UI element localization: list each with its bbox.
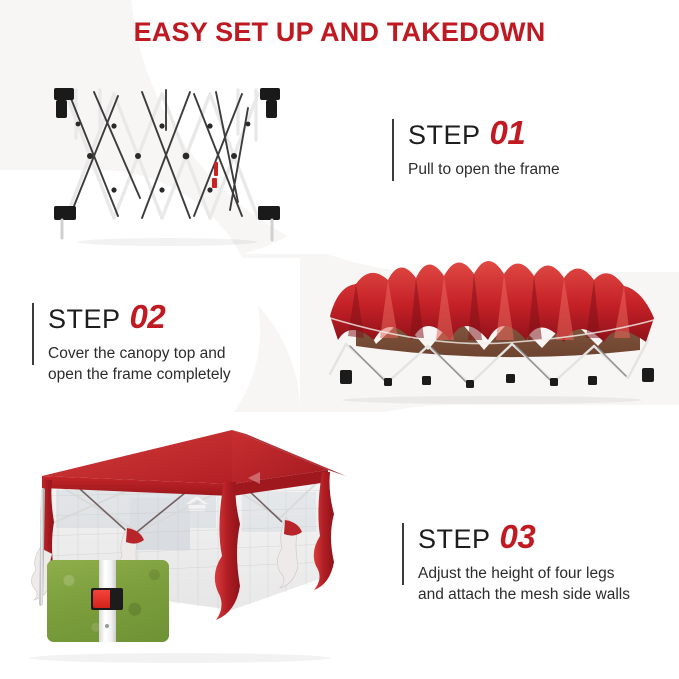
page-title: EASY SET UP AND TAKEDOWN: [134, 17, 546, 48]
step-label-02: STEP: [48, 304, 121, 334]
step-block-03: STEP03 Adjust the height of four legs an…: [402, 520, 630, 606]
step-number-03: 03: [500, 518, 536, 555]
step-label-03: STEP: [418, 524, 491, 554]
header-banner: EASY SET UP AND TAKEDOWN: [0, 0, 679, 64]
red-push-button: [93, 590, 110, 608]
step-block-01: STEP01 Pull to open the frame: [392, 116, 560, 181]
leg-height-button-detail: [47, 560, 169, 642]
draped-canopy-photo: [316, 246, 668, 406]
infographic-page: EASY SET UP AND TAKEDOWN: [0, 0, 679, 679]
step-number-01: 01: [490, 114, 526, 151]
step-label-01: STEP: [408, 120, 481, 150]
step-heading-02: STEP02: [48, 300, 231, 333]
collapsed-frame-photo: [42, 78, 292, 248]
step-description-03: Adjust the height of four legs and attac…: [418, 564, 630, 606]
step-description-01: Pull to open the frame: [408, 160, 560, 181]
step-block-02: STEP02 Cover the canopy top and open the…: [32, 300, 231, 386]
leg-adjust-hole: [105, 624, 109, 628]
step-description-02: Cover the canopy top and open the frame …: [48, 344, 231, 386]
step-heading-01: STEP01: [408, 116, 560, 149]
step-number-02: 02: [130, 298, 166, 335]
step-heading-03: STEP03: [418, 520, 630, 553]
